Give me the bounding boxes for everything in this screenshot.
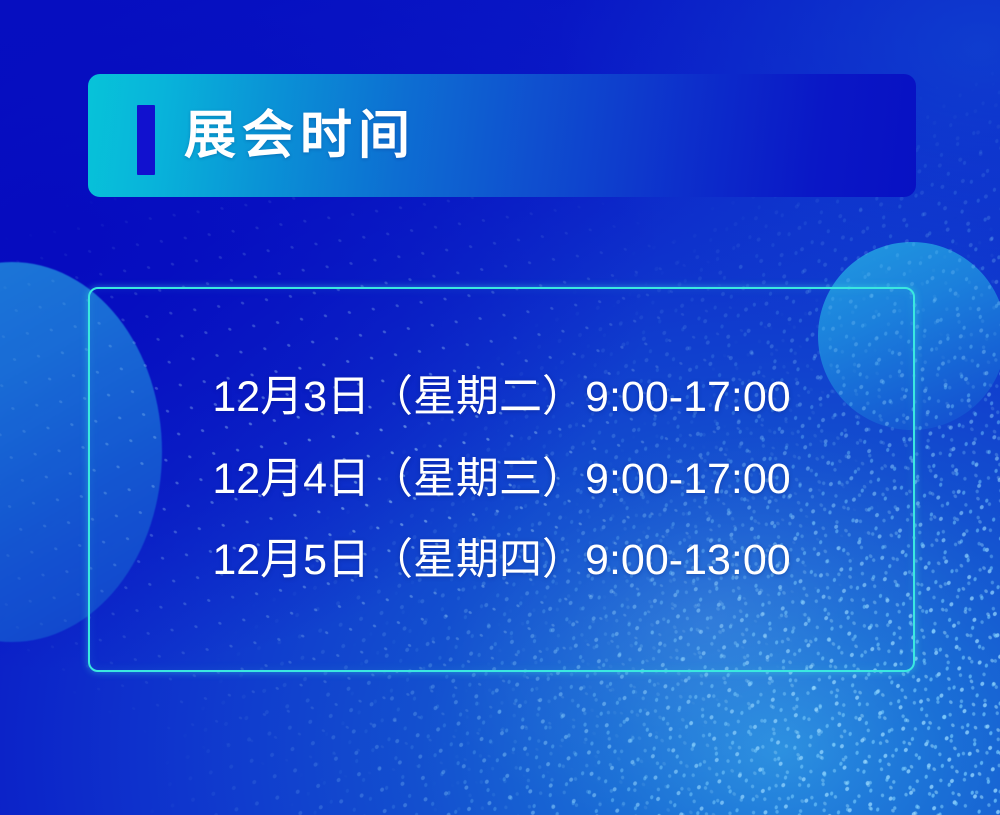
section-header-bar: 展会时间 bbox=[88, 74, 916, 197]
schedule-list: 12月3日（星期二）9:00-17:00 12月4日（星期三）9:00-17:0… bbox=[88, 287, 915, 672]
list-item: 12月5日（星期四）9:00-13:00 bbox=[212, 538, 790, 584]
list-item: 12月3日（星期二）9:00-17:00 bbox=[212, 375, 790, 421]
list-item: 12月4日（星期三）9:00-17:00 bbox=[212, 457, 790, 503]
page-title: 展会时间 bbox=[184, 110, 416, 162]
vertical-accent-bar-icon bbox=[137, 105, 155, 175]
exhibition-schedule-poster: 展会时间 12月3日（星期二）9:00-17:00 12月4日（星期三）9:00… bbox=[0, 0, 1000, 815]
